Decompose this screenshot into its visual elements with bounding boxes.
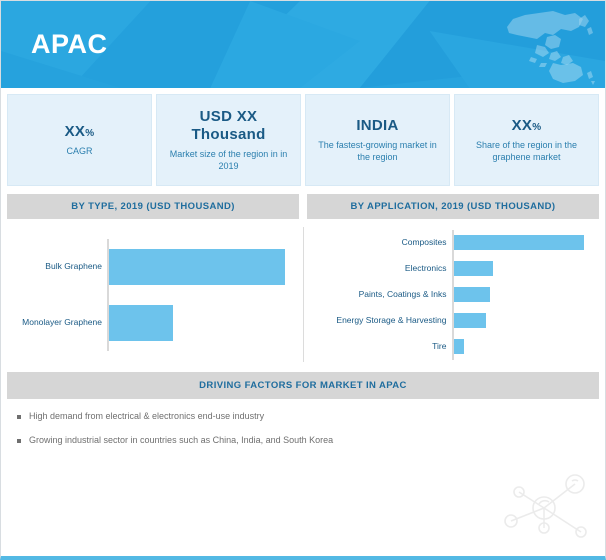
bar xyxy=(109,249,285,285)
stat-value-cagr: XX% xyxy=(65,123,95,141)
charts-container: Bulk GrapheneMonolayer Graphene Composit… xyxy=(7,227,599,362)
bar-label: Monolayer Graphene xyxy=(7,317,107,328)
bullet-icon xyxy=(17,415,21,419)
bar-track xyxy=(454,287,600,302)
stats-row: XX% CAGR USD XX Thousand Market size of … xyxy=(1,88,605,186)
bar-track xyxy=(109,305,303,341)
stat-card-region-share: XX% Share of the region in the graphene … xyxy=(454,94,599,186)
driving-factors-list: High demand from electrical & electronic… xyxy=(7,399,599,445)
stat-value-market-size: USD XX xyxy=(200,108,258,126)
bar-label: Tire xyxy=(304,341,452,352)
chart-band: BY TYPE, 2019 (USD THOUSAND) BY APPLICAT… xyxy=(1,194,605,362)
bullet-icon xyxy=(17,439,21,443)
bar-track xyxy=(454,313,600,328)
stat-caption-fastest-growing-market: The fastest-growing market in the region xyxy=(312,139,443,163)
driving-factor-text: Growing industrial sector in countries s… xyxy=(29,435,333,445)
bar xyxy=(109,305,173,341)
bar-row: Monolayer Graphene xyxy=(7,295,303,351)
stat-caption-cagr: CAGR xyxy=(66,145,92,157)
bar-label: Bulk Graphene xyxy=(7,261,107,272)
driving-factor-item: Growing industrial sector in countries s… xyxy=(7,435,599,445)
stat-value-cagr-number: XX xyxy=(65,123,86,140)
molecule-network-icon xyxy=(489,468,599,548)
bar-track xyxy=(454,261,600,276)
stat-value-region-share-number: XX xyxy=(512,117,533,134)
bar-track xyxy=(454,235,600,250)
apac-map-icon xyxy=(487,5,597,87)
bar-row: Energy Storage & Harvesting xyxy=(304,308,600,334)
bar-row: Tire xyxy=(304,334,600,360)
stat-card-fastest-growing-market: INDIA The fastest-growing market in the … xyxy=(305,94,450,186)
page-title: APAC xyxy=(31,29,108,60)
chart-header-by-type: BY TYPE, 2019 (USD THOUSAND) xyxy=(7,194,299,219)
stat-value-region-share: XX% xyxy=(512,117,542,135)
bar-row: Electronics xyxy=(304,256,600,282)
chart-header-by-application: BY APPLICATION, 2019 (USD THOUSAND) xyxy=(307,194,599,219)
stat-card-cagr: XX% CAGR xyxy=(7,94,152,186)
stat-caption-region-share: Share of the region in the graphene mark… xyxy=(461,139,592,163)
stat-value-region-share-percent: % xyxy=(532,122,541,133)
chart-by-application: CompositesElectronicsPaints, Coatings & … xyxy=(304,227,600,362)
stat-caption-market-size: Market size of the region in in 2019 xyxy=(163,148,294,172)
chart-by-type-bars: Bulk GrapheneMonolayer Graphene xyxy=(7,227,303,362)
bar-row: Paints, Coatings & Inks xyxy=(304,282,600,308)
bar xyxy=(454,313,486,328)
bar xyxy=(454,339,465,354)
bar-track xyxy=(109,249,303,285)
bar xyxy=(454,235,584,250)
bar-row: Bulk Graphene xyxy=(7,239,303,295)
infographic-card: APAC XX% CAGR xyxy=(0,0,606,560)
chart-by-type: Bulk GrapheneMonolayer Graphene xyxy=(7,227,304,362)
stat-value-fastest-growing-market: INDIA xyxy=(356,117,398,135)
chart-headers: BY TYPE, 2019 (USD THOUSAND) BY APPLICAT… xyxy=(7,194,599,219)
stat-value-cagr-percent: % xyxy=(85,128,94,139)
bar xyxy=(454,287,491,302)
header-banner: APAC xyxy=(1,1,605,88)
bar-label: Energy Storage & Harvesting xyxy=(304,315,452,326)
chart-by-application-bars: CompositesElectronicsPaints, Coatings & … xyxy=(304,227,600,362)
bar-track xyxy=(454,339,600,354)
bar-label: Composites xyxy=(304,237,452,248)
stat-card-market-size: USD XX Thousand Market size of the regio… xyxy=(156,94,301,186)
driving-factor-text: High demand from electrical & electronic… xyxy=(29,411,264,421)
bar-row: Composites xyxy=(304,230,600,256)
stat-value-market-size-line2: Thousand xyxy=(191,126,265,144)
bar-label: Electronics xyxy=(304,263,452,274)
driving-factors-header: DRIVING FACTORS FOR MARKET IN APAC xyxy=(7,372,599,399)
bar xyxy=(454,261,494,276)
driving-factors-section: DRIVING FACTORS FOR MARKET IN APAC High … xyxy=(7,372,599,445)
driving-factor-item: High demand from electrical & electronic… xyxy=(7,411,599,421)
bar-label: Paints, Coatings & Inks xyxy=(304,289,452,300)
